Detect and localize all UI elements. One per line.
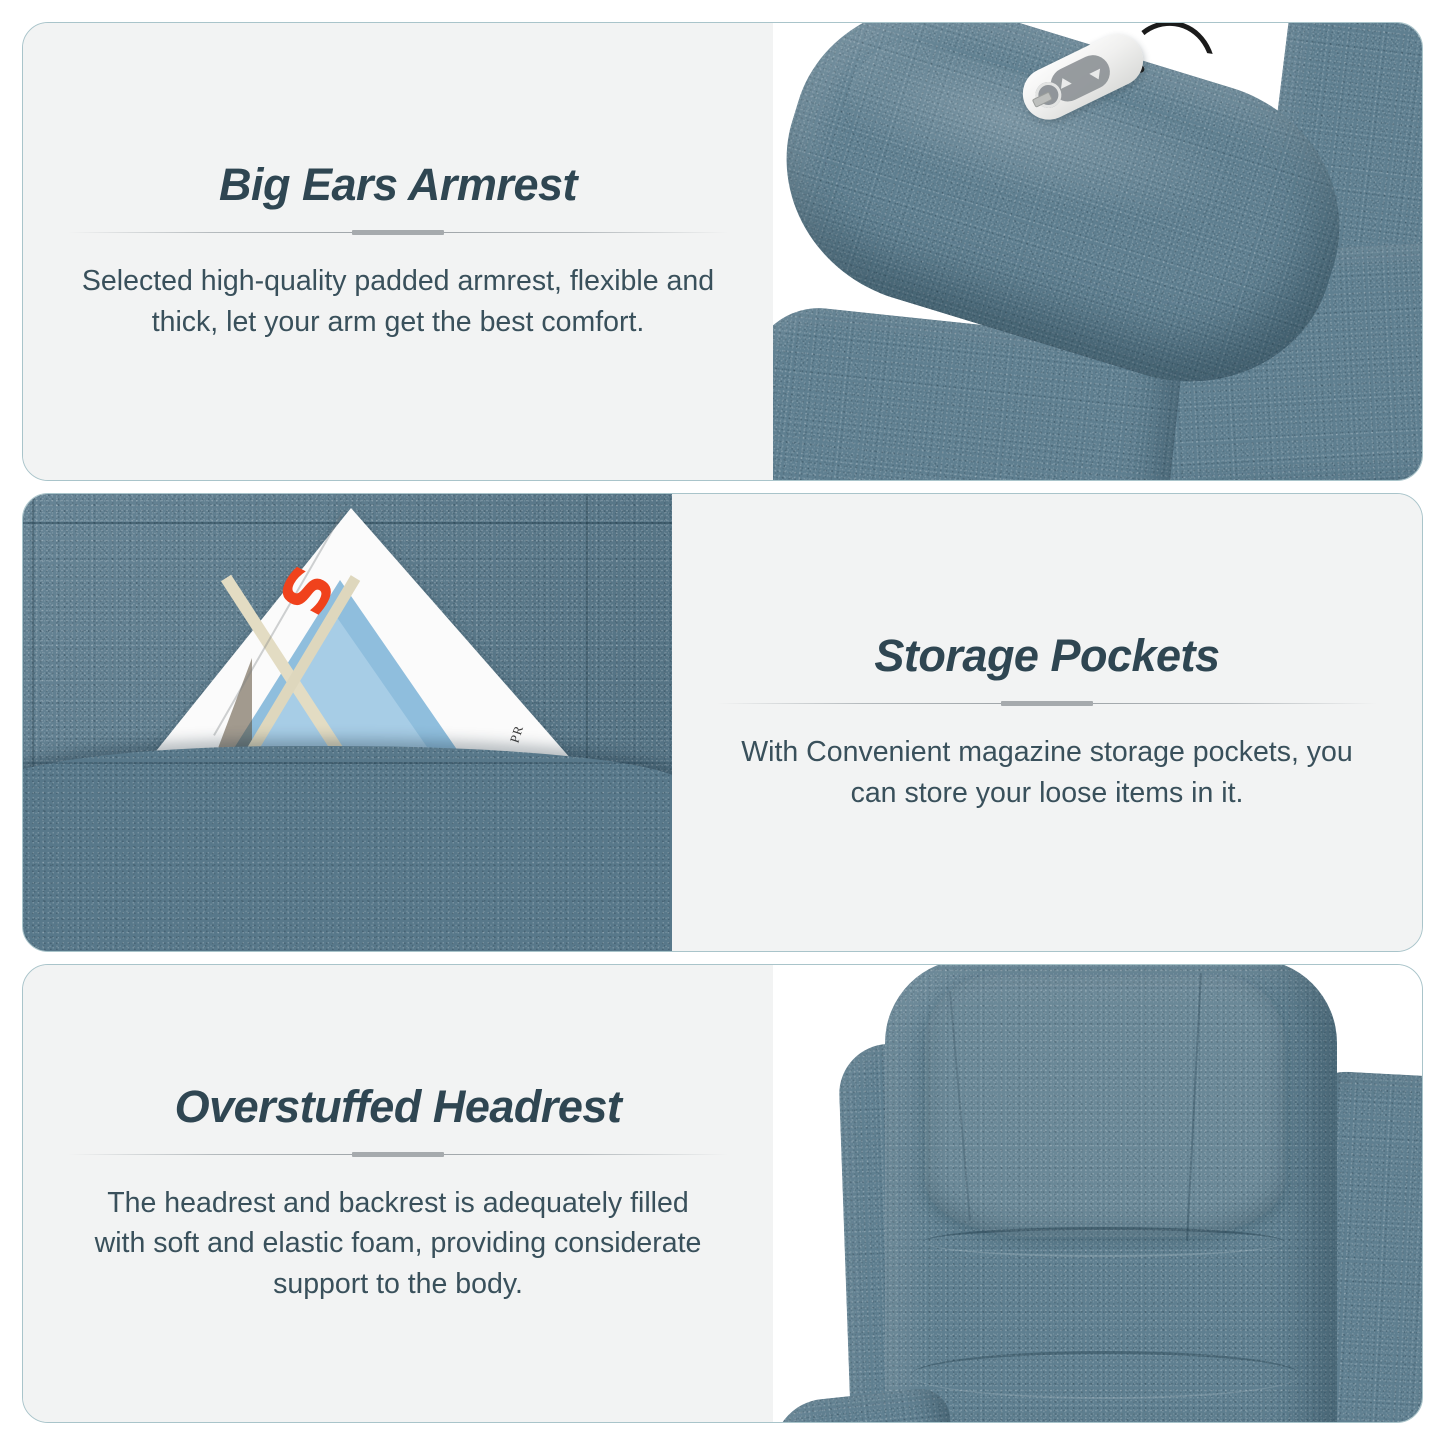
panel-description: The headrest and backrest is adequately … [78,1183,718,1304]
panel-text-pane-pockets: Storage Pockets With Convenient magazine… [672,494,1422,951]
title-divider [68,1152,728,1157]
feature-panel-storage-pockets: Storage Pockets With Convenient magazine… [22,493,1423,952]
tufted-seam-upper [923,1227,1285,1257]
fabric-pocket-flap [22,746,672,951]
title-divider [717,701,1377,706]
panel-text-pane-armrest: Big Ears Armrest Selected high-quality p… [23,23,773,480]
infographic-board: Big Ears Armrest Selected high-quality p… [0,0,1445,1445]
photo-stage-pocket: S 2 PR [22,494,672,951]
photo-stage-armrest [773,23,1422,480]
panel-text-pane-headrest: Overstuffed Headrest The headrest and ba… [23,965,773,1422]
storage-pocket-photo: S 2 PR [22,494,672,951]
headrest-photo [773,965,1422,1422]
headrest-pad-shape [925,975,1285,1237]
page-title: Big Ears Armrest [219,161,577,208]
photo-stage-headrest [773,965,1422,1422]
feature-panel-big-ears-armrest: Big Ears Armrest Selected high-quality p… [22,22,1423,481]
feature-panel-overstuffed-headrest: Overstuffed Headrest The headrest and ba… [22,964,1423,1423]
tufted-seam-lower [911,1351,1301,1399]
page-title: Storage Pockets [874,632,1219,679]
panel-description: Selected high-quality padded armrest, fl… [78,261,718,342]
armrest-bolster-photo [773,23,1422,480]
title-divider [68,230,728,235]
page-title: Overstuffed Headrest [175,1083,622,1130]
pocket-seam [22,762,672,764]
panel-description: With Convenient magazine storage pockets… [727,732,1367,813]
